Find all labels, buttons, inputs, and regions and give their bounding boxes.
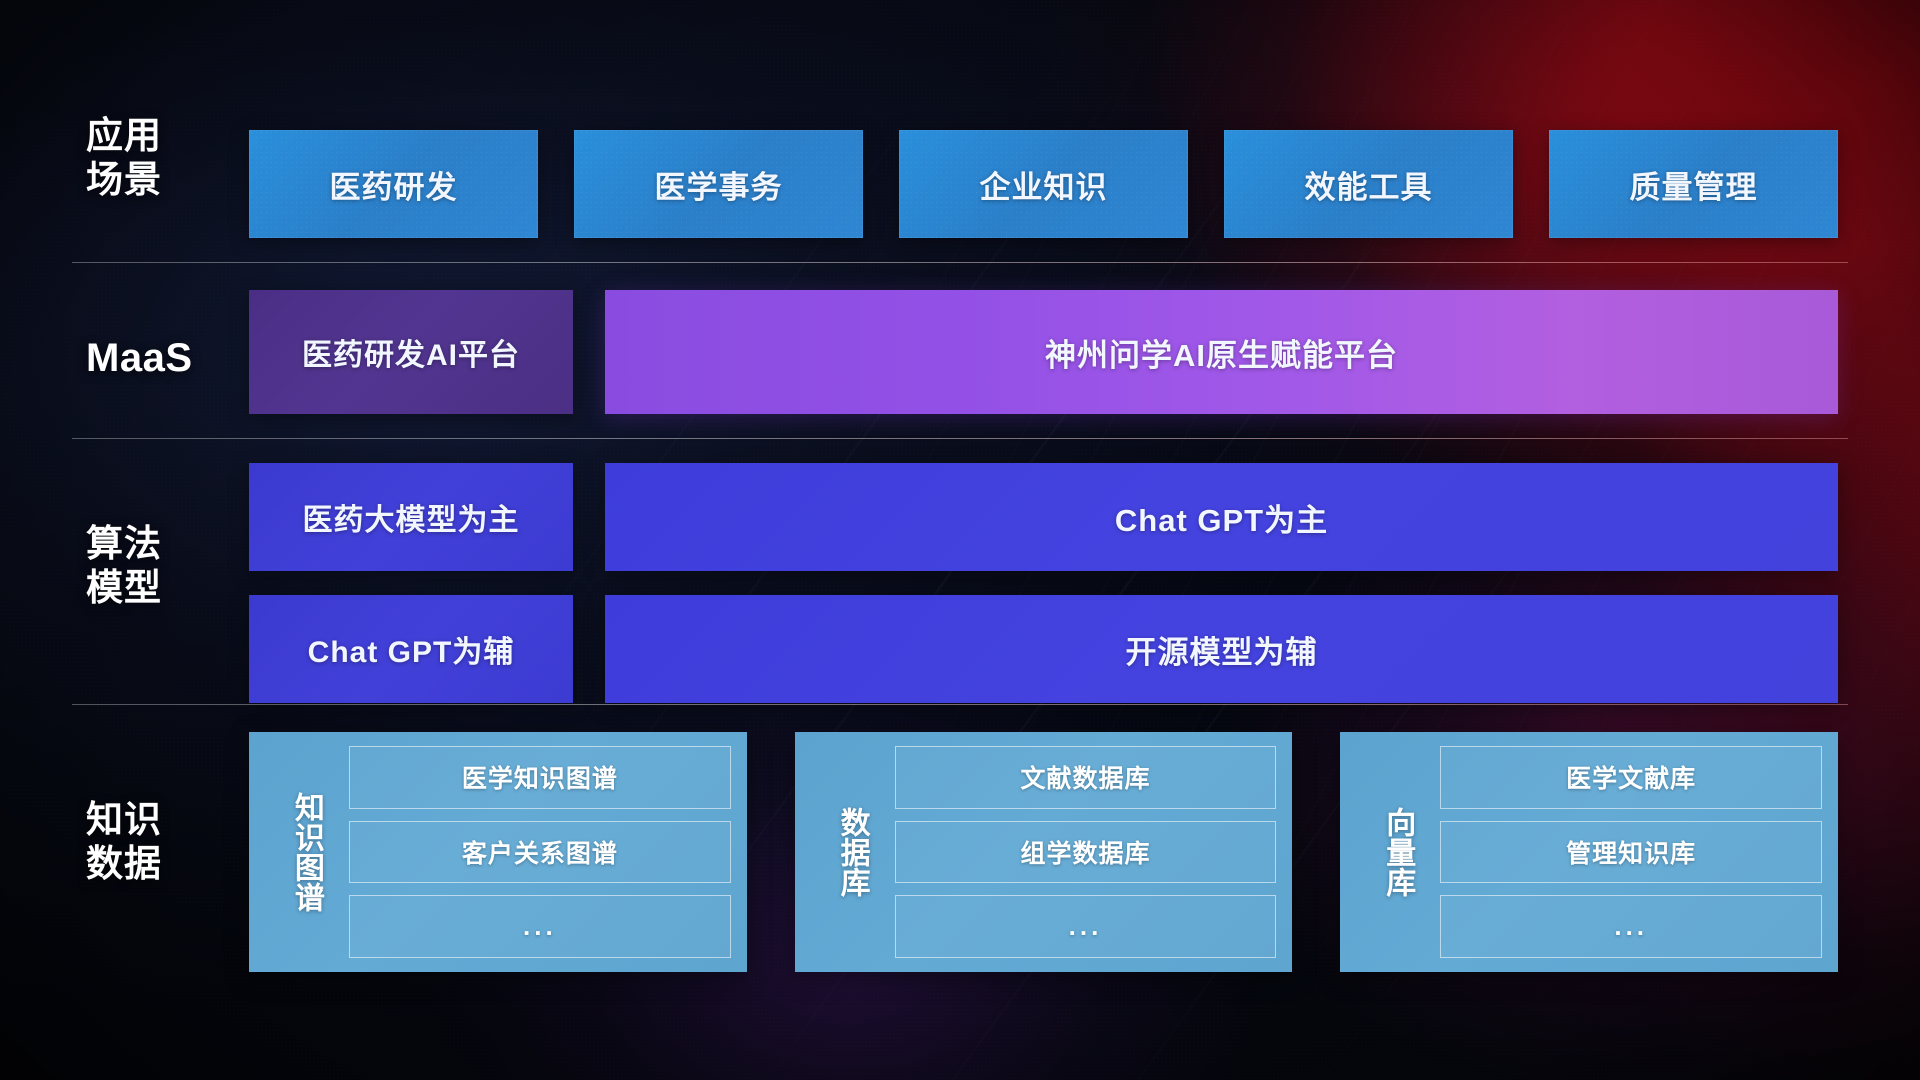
knowledge-item[interactable]: 管理知识库: [1440, 821, 1822, 884]
maas-platform-card-right[interactable]: 神州问学AI原生赋能平台: [605, 290, 1838, 414]
diagram-canvas: 应用 场景 医药研发 医学事务 企业知识 效能工具 质量管理: [0, 0, 1920, 1080]
application-card-1[interactable]: 医学事务: [574, 130, 863, 238]
application-card-4[interactable]: 质量管理: [1549, 130, 1838, 238]
algorithm-card-primary-domain[interactable]: 医药大模型为主: [249, 463, 573, 571]
application-card-0[interactable]: 医药研发: [249, 130, 538, 238]
application-card-3[interactable]: 效能工具: [1224, 130, 1513, 238]
row-label-algorithms: 算法 模型: [86, 522, 216, 609]
knowledge-group-vector: 向量库 医学文献库 管理知识库 ...: [1340, 732, 1838, 972]
knowledge-group-graph: 知识图谱 医学知识图谱 客户关系图谱 ...: [249, 732, 747, 972]
knowledge-item[interactable]: 医学知识图谱: [349, 746, 731, 809]
algorithm-line-1: Chat GPT为辅 开源模型为辅: [249, 595, 1838, 703]
maas-left-label: 医药研发AI平台: [302, 330, 520, 374]
row-label-knowledge: 知识 数据: [86, 798, 216, 885]
knowledge-group-title: 知识图谱: [277, 746, 335, 958]
algorithm-card-label: Chat GPT为辅: [308, 627, 515, 671]
knowledge-group-title: 数据库: [823, 746, 881, 958]
row-label-maas: MaaS: [86, 335, 216, 382]
algorithm-card-label: 医药大模型为主: [303, 495, 520, 539]
application-card-label: 质量管理: [1630, 162, 1758, 207]
knowledge-item[interactable]: 组学数据库: [895, 821, 1277, 884]
application-card-label: 效能工具: [1305, 162, 1433, 207]
knowledge-item-more[interactable]: ...: [895, 895, 1277, 958]
algorithm-line-0: 医药大模型为主 Chat GPT为主: [249, 463, 1838, 571]
algorithm-card-secondary-domain[interactable]: Chat GPT为辅: [249, 595, 573, 703]
maas-right-label: 神州问学AI原生赋能平台: [1045, 330, 1398, 375]
algorithm-card-label: 开源模型为辅: [1126, 627, 1318, 672]
applications-row: 医药研发 医学事务 企业知识 效能工具 质量管理: [249, 130, 1838, 238]
maas-platform-card-left[interactable]: 医药研发AI平台: [249, 290, 573, 414]
knowledge-item-more[interactable]: ...: [349, 895, 731, 958]
row-label-applications: 应用 场景: [86, 114, 216, 201]
algorithm-card-secondary-general[interactable]: 开源模型为辅: [605, 595, 1838, 703]
algorithm-card-label: Chat GPT为主: [1115, 495, 1328, 540]
knowledge-item[interactable]: 客户关系图谱: [349, 821, 731, 884]
application-card-label: 企业知识: [980, 162, 1108, 207]
application-card-2[interactable]: 企业知识: [899, 130, 1188, 238]
maas-row: 医药研发AI平台 神州问学AI原生赋能平台: [249, 290, 1838, 414]
knowledge-row: 知识图谱 医学知识图谱 客户关系图谱 ... 数据库 文献数据库 组学数据库 .…: [249, 732, 1838, 972]
knowledge-group-database: 数据库 文献数据库 组学数据库 ...: [795, 732, 1293, 972]
divider-applications-maas: [72, 262, 1848, 263]
divider-algorithms-knowledge: [72, 704, 1848, 705]
knowledge-item-list: 文献数据库 组学数据库 ...: [895, 746, 1277, 958]
application-card-label: 医药研发: [330, 162, 458, 207]
algorithm-card-primary-general[interactable]: Chat GPT为主: [605, 463, 1838, 571]
application-card-label: 医学事务: [655, 162, 783, 207]
knowledge-item-list: 医学文献库 管理知识库 ...: [1440, 746, 1822, 958]
knowledge-item-more[interactable]: ...: [1440, 895, 1822, 958]
knowledge-item[interactable]: 文献数据库: [895, 746, 1277, 809]
divider-maas-algorithms: [72, 438, 1848, 439]
algorithms-row: 医药大模型为主 Chat GPT为主 Chat GPT为辅 开源模型为辅: [249, 463, 1838, 703]
knowledge-group-title: 向量库: [1368, 746, 1426, 958]
knowledge-item[interactable]: 医学文献库: [1440, 746, 1822, 809]
knowledge-item-list: 医学知识图谱 客户关系图谱 ...: [349, 746, 731, 958]
